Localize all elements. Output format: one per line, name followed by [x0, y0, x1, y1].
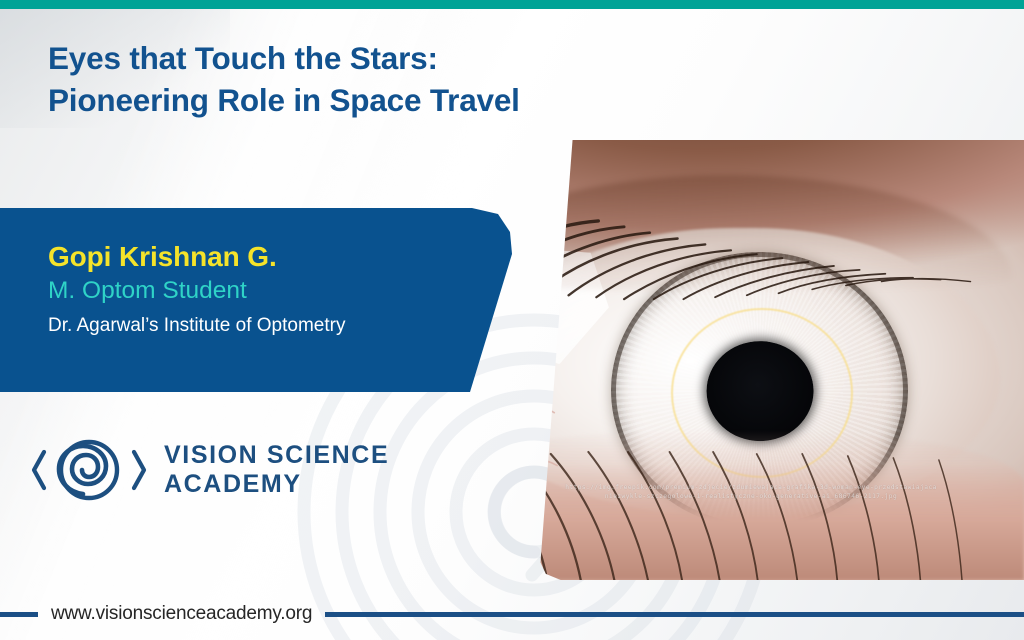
footer-website-url[interactable]: www.visionscienceacademy.org [51, 603, 312, 625]
speaker-name: Gopi Krishnan G. [48, 240, 478, 273]
footer-rule-right [325, 612, 1024, 617]
footer-rule-left [0, 612, 38, 617]
image-credit-watermark: https://img.freepik.com/premium-zdjecie/… [514, 483, 988, 502]
eye-pupil [706, 341, 813, 441]
speaker-info: Gopi Krishnan G. M. Optom Student Dr. Ag… [48, 240, 478, 339]
logo-wordmark: VISION SCIENCE ACADEMY [164, 441, 389, 499]
top-accent-bar [0, 0, 1024, 9]
speaker-role: M. Optom Student [48, 275, 478, 307]
speaker-organization: Dr. Agarwal’s Institute of Optometry [48, 314, 478, 339]
brand-logo: VISION SCIENCE ACADEMY [28, 432, 389, 508]
vision-science-academy-eye-spiral-icon [28, 432, 150, 508]
page-title: Eyes that Touch the Stars: Pioneering Ro… [48, 38, 688, 122]
presentation-slide: https://img.freepik.com/premium-zdjecie/… [0, 0, 1024, 640]
footer: www.visionscienceacademy.org [0, 588, 1024, 640]
